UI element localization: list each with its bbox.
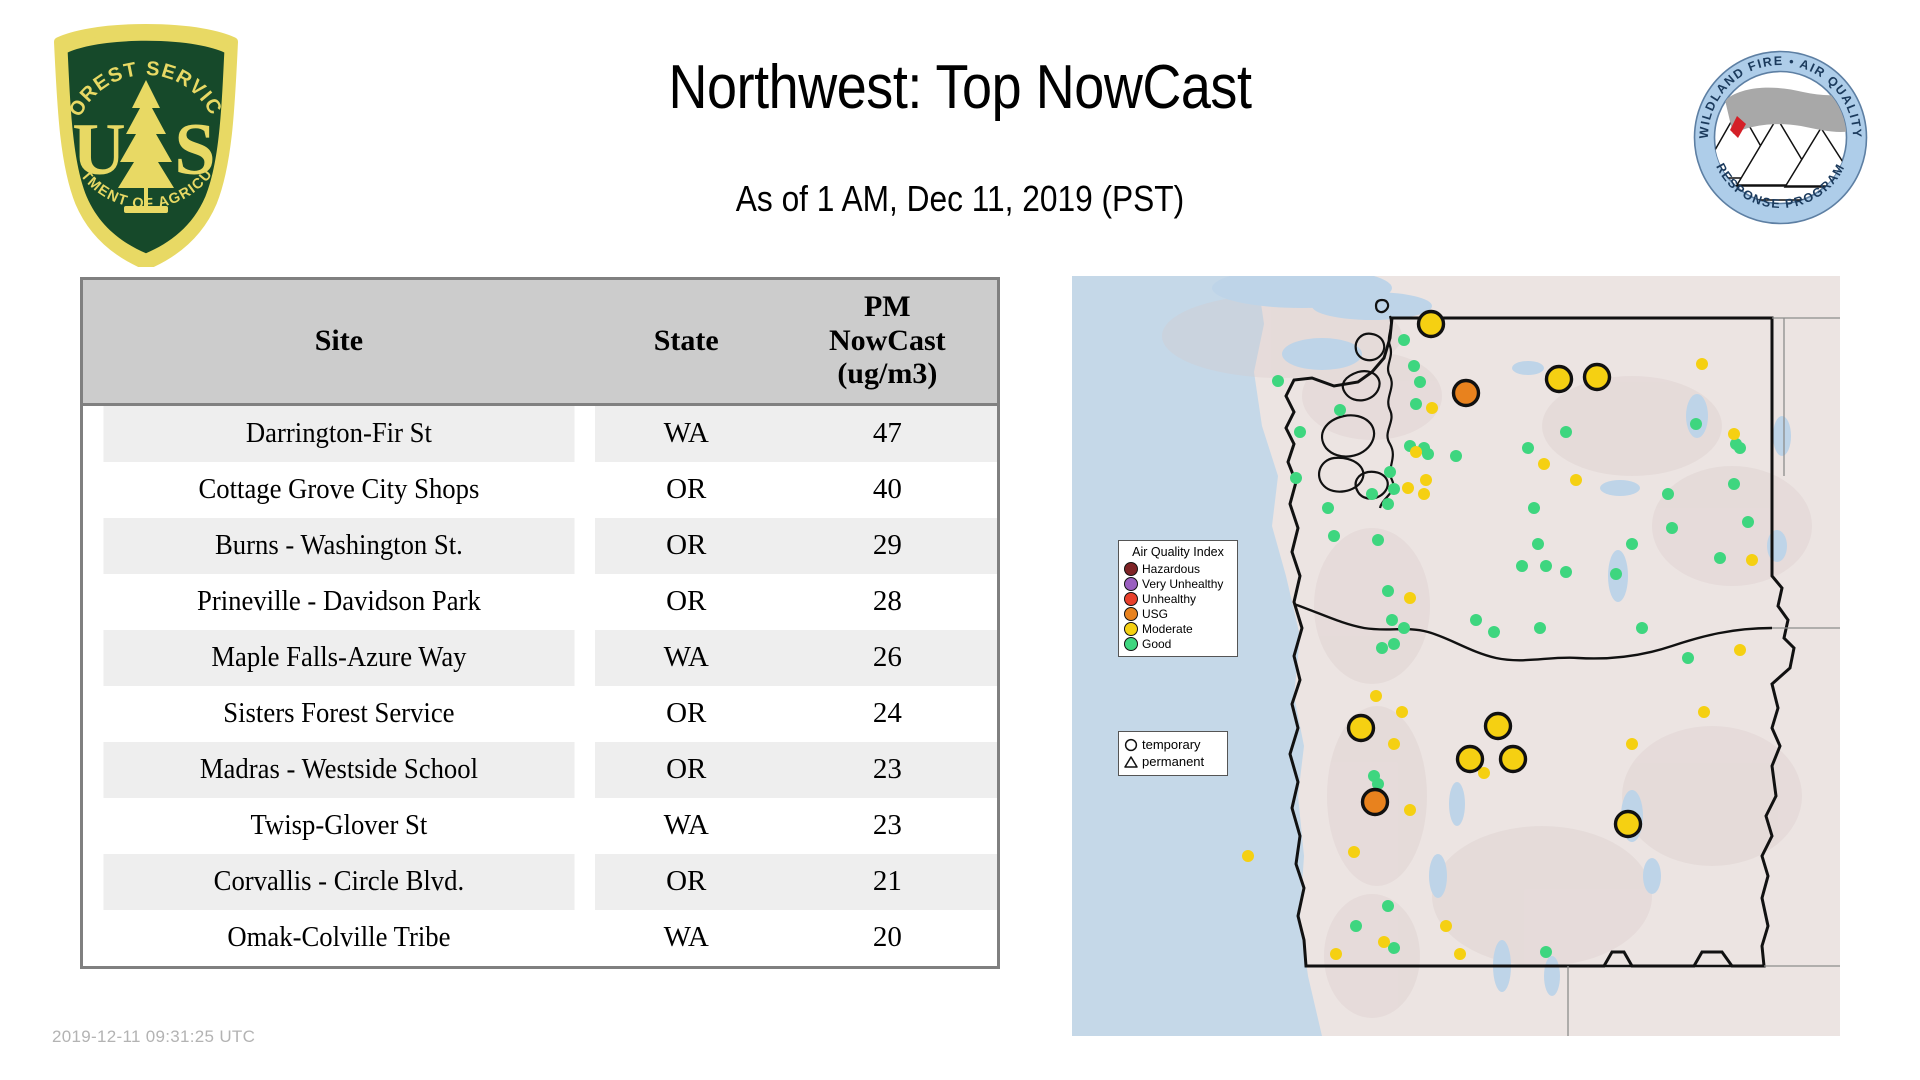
cell-state: WA — [595, 798, 778, 854]
station-legend-permanent: permanent — [1124, 753, 1223, 770]
aqi-legend-label: Moderate — [1142, 623, 1193, 635]
cell-pm-nowcast: 23 — [778, 742, 997, 798]
highlight-marker — [1419, 312, 1444, 337]
station-legend-label: temporary — [1142, 738, 1201, 751]
highlight-marker — [1486, 714, 1511, 739]
cell-state: OR — [595, 518, 778, 574]
triangle-icon — [1124, 755, 1138, 769]
cell-site: Corvallis - Circle Blvd. — [103, 854, 574, 910]
pm-header-line-3: (ug/m3) — [778, 357, 997, 391]
aqi-legend-item: USG — [1124, 606, 1232, 621]
cell-site: Madras - Westside School — [103, 742, 574, 798]
aqi-legend-item: Very Unhealthy — [1124, 576, 1232, 591]
aqi-swatch-icon — [1124, 577, 1138, 591]
table-row: Madras - Westside SchoolOR23 — [83, 742, 997, 798]
table-row: Darrington-Fir StWA47 — [83, 404, 997, 462]
table-row: Sisters Forest ServiceOR24 — [83, 686, 997, 742]
circle-icon — [1124, 738, 1138, 752]
highlight-marker — [1363, 790, 1388, 815]
aqi-legend-label: Unhealthy — [1142, 593, 1196, 605]
table-row: Twisp-Glover StWA23 — [83, 798, 997, 854]
aqi-swatch-icon — [1124, 607, 1138, 621]
cell-pm-nowcast: 26 — [778, 630, 997, 686]
cell-pm-nowcast: 24 — [778, 686, 997, 742]
nowcast-table: Site State PM NowCast (ug/m3) Darrington… — [80, 277, 1000, 969]
cell-state: WA — [595, 910, 778, 966]
aqi-legend-label: Hazardous — [1142, 563, 1200, 575]
aqi-swatch-icon — [1124, 592, 1138, 606]
cell-state: OR — [595, 574, 778, 630]
station-legend-temporary: temporary — [1124, 736, 1223, 753]
aqi-legend: Air Quality Index HazardousVery Unhealth… — [1118, 540, 1238, 657]
aqi-legend-label: USG — [1142, 608, 1168, 620]
pm-header-line-2: NowCast — [778, 324, 997, 358]
cell-pm-nowcast: 20 — [778, 910, 997, 966]
cell-pm-nowcast: 40 — [778, 462, 997, 518]
table-row: Burns - Washington St.OR29 — [83, 518, 997, 574]
table-row: Omak-Colville TribeWA20 — [83, 910, 997, 966]
station-legend-label: permanent — [1142, 755, 1204, 768]
station-type-legend: temporary permanent — [1118, 731, 1228, 776]
footer-timestamp: 2019-12-11 09:31:25 UTC — [52, 1027, 255, 1047]
highlight-marker — [1547, 367, 1572, 392]
aqi-legend-title: Air Quality Index — [1124, 545, 1232, 559]
cell-site: Cottage Grove City Shops — [103, 462, 574, 518]
aqi-swatch-icon — [1124, 622, 1138, 636]
highlight-marker — [1585, 365, 1610, 390]
table-row: Cottage Grove City ShopsOR40 — [83, 462, 997, 518]
pm-header-line-1: PM — [778, 290, 997, 324]
table-row: Prineville - Davidson ParkOR28 — [83, 574, 997, 630]
cell-state: OR — [595, 462, 778, 518]
table-header-row: Site State PM NowCast (ug/m3) — [83, 280, 997, 404]
cell-pm-nowcast: 21 — [778, 854, 997, 910]
aqi-swatch-icon — [1124, 637, 1138, 651]
aqi-legend-label: Good — [1142, 638, 1171, 650]
page-subtitle: As of 1 AM, Dec 11, 2019 (PST) — [115, 178, 1805, 220]
highlight-marker — [1349, 716, 1374, 741]
cell-site: Darrington-Fir St — [103, 404, 574, 462]
cell-site: Omak-Colville Tribe — [103, 910, 574, 966]
highlight-marker — [1501, 747, 1526, 772]
table-row: Maple Falls-Azure WayWA26 — [83, 630, 997, 686]
highlight-marker — [1454, 381, 1479, 406]
cell-pm-nowcast: 23 — [778, 798, 997, 854]
aqi-legend-label: Very Unhealthy — [1142, 578, 1223, 590]
highlight-marker — [1458, 747, 1483, 772]
cell-state: OR — [595, 742, 778, 798]
cell-state: OR — [595, 854, 778, 910]
cell-pm-nowcast: 47 — [778, 404, 997, 462]
page-title: Northwest: Top NowCast — [125, 52, 1795, 123]
cell-site: Burns - Washington St. — [103, 518, 574, 574]
cell-pm-nowcast: 28 — [778, 574, 997, 630]
cell-pm-nowcast: 29 — [778, 518, 997, 574]
cell-site: Maple Falls-Azure Way — [103, 630, 574, 686]
cell-state: WA — [595, 630, 778, 686]
cell-state: OR — [595, 686, 778, 742]
column-header-pm-nowcast: PM NowCast (ug/m3) — [778, 280, 997, 404]
cell-site: Sisters Forest Service — [103, 686, 574, 742]
cell-site: Twisp-Glover St — [103, 798, 574, 854]
cell-site: Prineville - Davidson Park — [103, 574, 574, 630]
aqi-legend-item: Good — [1124, 636, 1232, 651]
column-header-state: State — [595, 280, 778, 404]
column-header-site: Site — [83, 280, 595, 404]
aqi-legend-item: Moderate — [1124, 621, 1232, 636]
table-row: Corvallis - Circle Blvd.OR21 — [83, 854, 997, 910]
aqi-legend-item: Unhealthy — [1124, 591, 1232, 606]
highlight-marker — [1616, 812, 1641, 837]
aqi-swatch-icon — [1124, 562, 1138, 576]
cell-state: WA — [595, 404, 778, 462]
aqi-legend-item: Hazardous — [1124, 561, 1232, 576]
